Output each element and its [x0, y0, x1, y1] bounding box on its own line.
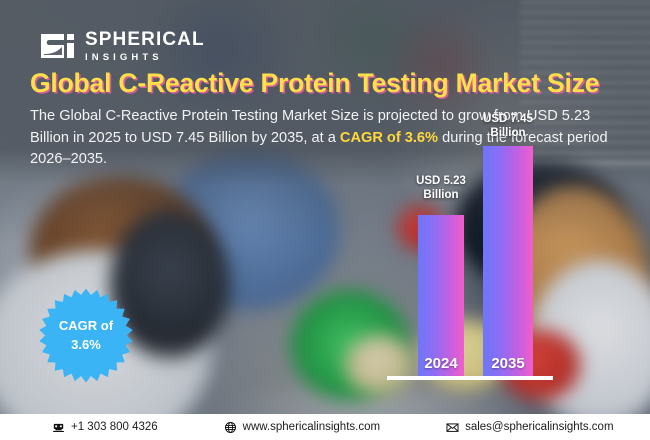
bar-value-label-2024: USD 5.23 Billion [402, 174, 480, 202]
footer-email-text: sales@sphericalinsights.com [465, 421, 613, 433]
cagr-badge-line2: 3.6% [71, 338, 101, 353]
bar-value-2035-line2: Billion [466, 126, 550, 140]
bar-value-label-2035: USD 7.45 Billion [466, 112, 550, 140]
bar-2024: 2024 [418, 215, 464, 376]
cagr-badge-text: CAGR of 3.6% [38, 284, 134, 387]
chart-baseline [387, 376, 553, 380]
footer-phone-text: +1 303 800 4326 [71, 421, 158, 433]
bar-2035: 2035 [483, 146, 533, 376]
bar-value-2024-line2: Billion [402, 188, 480, 202]
brand-tagline: INSIGHTS [85, 53, 205, 63]
spherical-logo-mark-icon [40, 28, 76, 64]
footer-website[interactable]: www.sphericalinsights.com [224, 421, 380, 434]
bar-year-label-2035: 2035 [483, 355, 533, 372]
bar-value-2024-line1: USD 5.23 [402, 174, 480, 188]
cagr-highlight: CAGR of 3.6% [340, 130, 438, 146]
envelope-icon [446, 421, 459, 434]
bar-year-label-2024: 2024 [418, 355, 464, 372]
footer-website-text: www.sphericalinsights.com [243, 421, 380, 433]
footer-email[interactable]: sales@sphericalinsights.com [446, 421, 613, 434]
globe-icon [224, 421, 237, 434]
brand-name: SPHERICAL [85, 30, 205, 49]
infographic-canvas: SPHERICAL INSIGHTS Global C-Reactive Pro… [0, 0, 650, 440]
cagr-badge: CAGR of 3.6% [38, 284, 134, 387]
market-size-bar-chart: 2024 2035 USD 5.23 Billion USD 7.45 Bill… [380, 170, 570, 410]
brand-logo: SPHERICAL INSIGHTS [40, 28, 205, 64]
brand-logo-text: SPHERICAL INSIGHTS [85, 30, 205, 63]
telephone-icon [52, 421, 65, 434]
bar-value-2035-line1: USD 7.45 [466, 112, 550, 126]
footer-phone[interactable]: +1 303 800 4326 [52, 421, 158, 434]
page-title: Global C-Reactive Protein Testing Market… [30, 68, 630, 99]
contact-footer: +1 303 800 4326 www.sphericalinsights.co… [0, 414, 650, 440]
cagr-badge-line1: CAGR of [59, 319, 113, 334]
